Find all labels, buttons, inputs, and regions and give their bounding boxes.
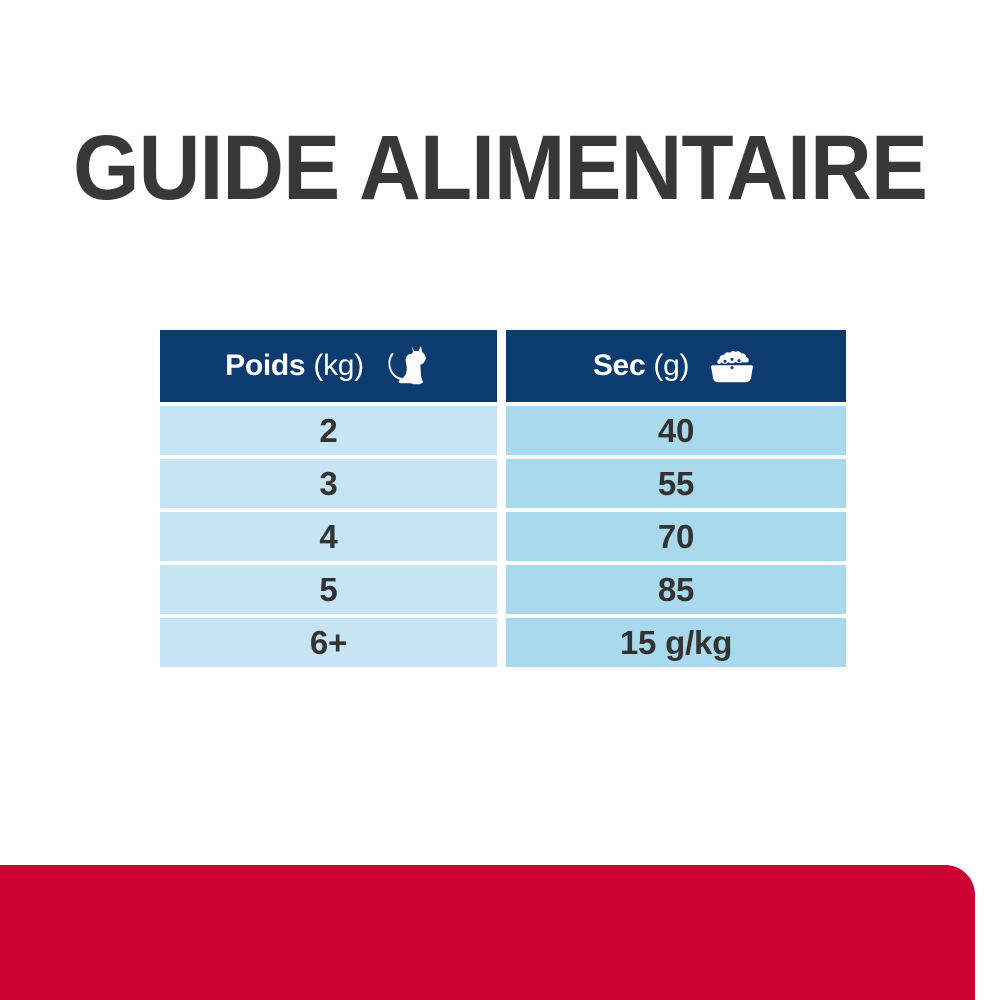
table-cell-weight: 2 [160,406,497,455]
table-cell-weight: 6+ [160,618,497,667]
table-header-weight-label-unit: (kg) [313,349,363,382]
page-title: GUIDE ALIMENTAIRE [35,120,965,216]
feeding-guide-page: GUIDE ALIMENTAIRE Poids (kg) [0,0,1000,1000]
bottom-brand-banner [0,865,975,1000]
table-cell-dry-food: 40 [506,406,846,455]
table-cell-weight: 4 [160,512,497,561]
table-cell-dry-food: 55 [506,459,846,508]
food-bowl-icon [705,342,759,390]
table-cell-dry-food: 85 [506,565,846,614]
table-column-weight: Poids (kg) [160,330,497,667]
table-header-dry-food-label-strong: Sec [593,349,645,382]
table-header-dry-food-label: Sec (g) [593,351,689,381]
table-header-dry-food-label-unit: (g) [653,349,689,382]
table-cell-dry-food: 70 [506,512,846,561]
table-cell-weight: 3 [160,459,497,508]
feeding-guide-table: Poids (kg) [160,330,846,667]
table-header-dry-food: Sec (g) [506,330,846,402]
table-header-weight: Poids (kg) [160,330,497,402]
table-cell-dry-food: 15 g/kg [506,618,846,667]
table-header-weight-label-strong: Poids [225,349,305,382]
table-header-weight-label: Poids (kg) [225,351,364,381]
table-cell-weight: 5 [160,565,497,614]
cat-icon [380,340,432,392]
table-column-dry-food: Sec (g) [506,330,846,667]
